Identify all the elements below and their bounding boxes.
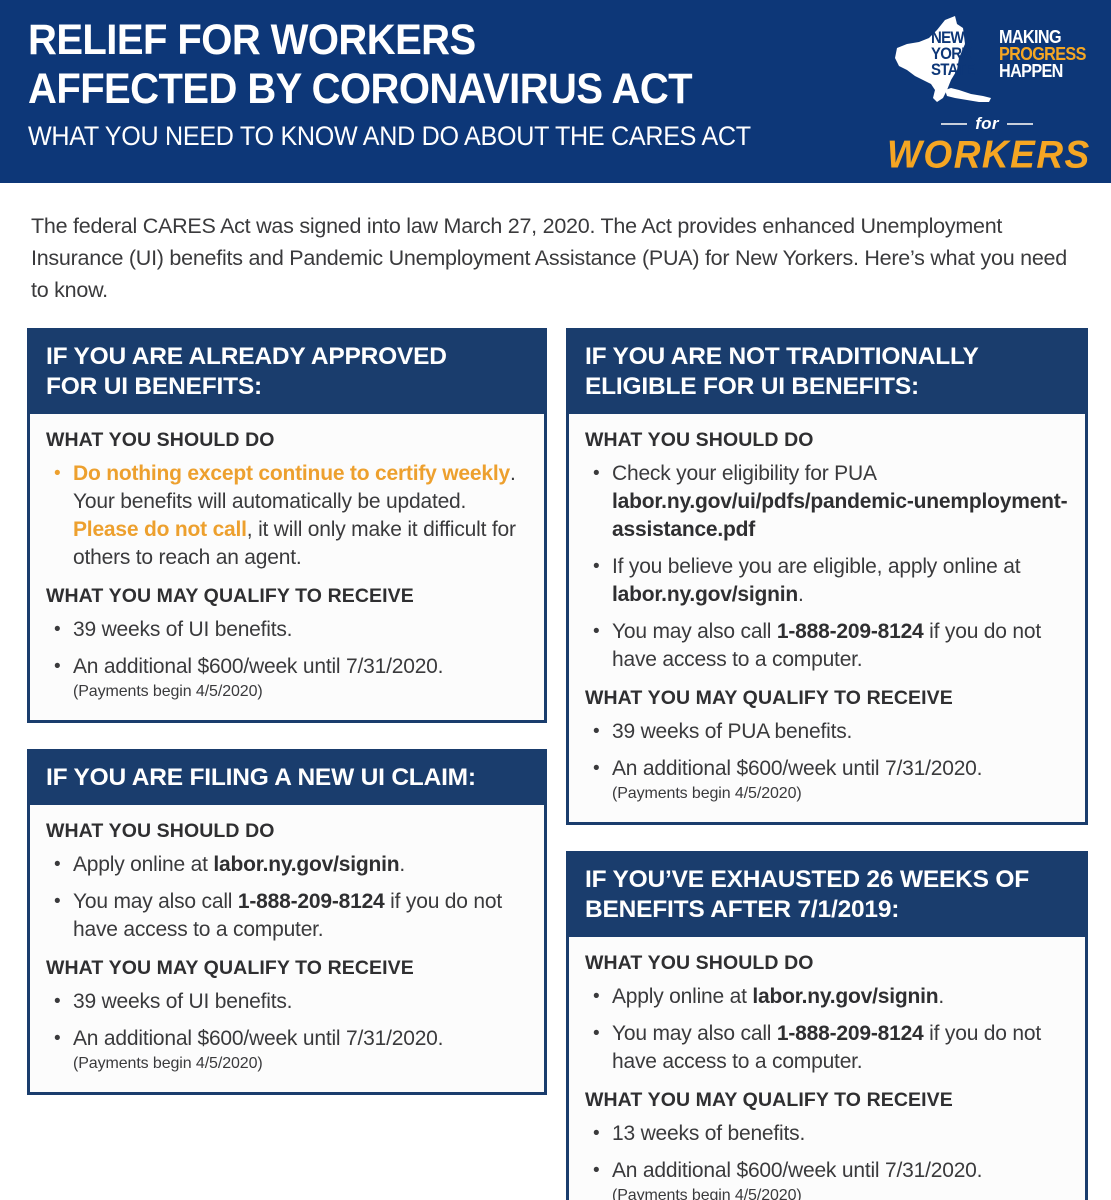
section-what-you-should-do: WHAT YOU SHOULD DO xyxy=(585,951,1069,975)
logo-state-line3: STATE xyxy=(931,60,974,79)
bullet-post-text: . xyxy=(798,583,804,606)
list-item: Apply online at labor.ny.gov/signin. xyxy=(46,851,528,879)
card-new-ui-claim-header: IF YOU ARE FILING A NEW UI CLAIM: xyxy=(30,752,544,805)
qualify-list: 39 weeks of UI benefits. An additional $… xyxy=(46,988,528,1074)
card-not-traditionally-eligible: IF YOU ARE NOT TRADITIONALLY ELIGIBLE FO… xyxy=(566,328,1088,825)
list-item: 39 weeks of UI benefits. xyxy=(46,616,528,644)
card-exhausted-benefits: IF YOU’VE EXHAUSTED 26 WEEKS OF BENEFITS… xyxy=(566,851,1088,1200)
should-do-list: Do nothing except continue to certify we… xyxy=(46,460,528,572)
card-header-line1: IF YOU ARE FILING A NEW UI CLAIM: xyxy=(46,764,476,791)
phone-number[interactable]: 1-888-209-8124 xyxy=(238,890,385,913)
card-exhausted-benefits-header: IF YOU’VE EXHAUSTED 26 WEEKS OF BENEFITS… xyxy=(569,854,1085,937)
bullet-pre-text: You may also call xyxy=(73,890,238,913)
logo-rule-right xyxy=(1007,123,1033,125)
bullet-post-text: . xyxy=(399,853,405,876)
section-what-you-should-do: WHAT YOU SHOULD DO xyxy=(46,428,528,452)
card-already-approved: IF YOU ARE ALREADY APPROVED FOR UI BENEF… xyxy=(27,328,547,723)
page-subtitle: WHAT YOU NEED TO KNOW AND DO ABOUT THE C… xyxy=(28,121,1035,151)
section-what-you-should-do: WHAT YOU SHOULD DO xyxy=(585,428,1069,452)
list-item: An additional $600/week until 7/31/2020.… xyxy=(46,1025,528,1074)
list-item: Do nothing except continue to certify we… xyxy=(46,460,528,572)
list-item: 39 weeks of PUA benefits. xyxy=(585,718,1069,746)
list-item: You may also call 1-888-209-8124 if you … xyxy=(585,618,1069,674)
bullet-pre-text: Apply online at xyxy=(73,853,213,876)
should-do-list: Check your eligibility for PUA labor.ny.… xyxy=(585,460,1069,674)
bullet-pre-text: You may also call xyxy=(612,1022,777,1045)
list-item: If you believe you are eligible, apply o… xyxy=(585,553,1069,609)
card-not-traditionally-eligible-header: IF YOU ARE NOT TRADITIONALLY ELIGIBLE FO… xyxy=(569,331,1085,414)
bullet-pre-text: If you believe you are eligible, apply o… xyxy=(612,555,1020,578)
list-item: 39 weeks of UI benefits. xyxy=(46,988,528,1016)
logo-for-row: for xyxy=(887,114,1087,134)
card-header-line2: BENEFITS AFTER 7/1/2019: xyxy=(585,896,899,923)
list-item: An additional $600/week until 7/31/2020.… xyxy=(585,1157,1069,1200)
link-labor-ny-gov-signin[interactable]: labor.ny.gov/signin xyxy=(213,853,399,876)
page-header-banner: RELIEF FOR WORKERS AFFECTED BY CORONAVIR… xyxy=(0,0,1111,183)
qualify-list: 39 weeks of UI benefits. An additional $… xyxy=(46,616,528,702)
card-exhausted-benefits-body: WHAT YOU SHOULD DO Apply online at labor… xyxy=(569,937,1085,1200)
logo-rule-left xyxy=(941,123,967,125)
card-header-line1: IF YOU’VE EXHAUSTED 26 WEEKS OF xyxy=(585,866,1029,893)
list-item: 13 weeks of benefits. xyxy=(585,1120,1069,1148)
logo-lockup: NEW YORK STATE MAKING PROGRESS HAPPEN fo… xyxy=(887,14,1087,119)
link-labor-ny-gov-signin[interactable]: labor.ny.gov/signin xyxy=(752,985,938,1008)
card-already-approved-header: IF YOU ARE ALREADY APPROVED FOR UI BENEF… xyxy=(30,331,544,414)
card-header-line1: IF YOU ARE NOT TRADITIONALLY xyxy=(585,343,979,370)
list-item: You may also call 1-888-209-8124 if you … xyxy=(585,1020,1069,1076)
section-what-you-should-do: WHAT YOU SHOULD DO xyxy=(46,819,528,843)
bullet-pre-text: Apply online at xyxy=(612,985,752,1008)
section-what-you-may-qualify: WHAT YOU MAY QUALIFY TO RECEIVE xyxy=(585,1088,1069,1112)
qualify-text: An additional $600/week until 7/31/2020. xyxy=(73,1027,443,1050)
card-already-approved-body: WHAT YOU SHOULD DO Do nothing except con… xyxy=(30,414,544,720)
bullet-pre-text: Check your eligibility for PUA xyxy=(612,462,876,485)
bullet-pre-text: You may also call xyxy=(612,620,777,643)
bullet-post-text: . xyxy=(938,985,944,1008)
cards-grid: IF YOU ARE ALREADY APPROVED FOR UI BENEF… xyxy=(0,328,1111,1200)
list-item: An additional $600/week until 7/31/2020.… xyxy=(46,653,528,702)
accent-text-do-not-call: Please do not call xyxy=(73,518,247,541)
card-new-ui-claim-body: WHAT YOU SHOULD DO Apply online at labor… xyxy=(30,805,544,1092)
payments-begin-note: (Payments begin 4/5/2020) xyxy=(73,681,528,702)
phone-number[interactable]: 1-888-209-8124 xyxy=(777,1022,924,1045)
card-new-ui-claim: IF YOU ARE FILING A NEW UI CLAIM: WHAT Y… xyxy=(27,749,547,1095)
payments-begin-note: (Payments begin 4/5/2020) xyxy=(612,783,1069,804)
card-not-traditionally-eligible-body: WHAT YOU SHOULD DO Check your eligibilit… xyxy=(569,414,1085,822)
phone-number[interactable]: 1-888-209-8124 xyxy=(777,620,924,643)
payments-begin-note: (Payments begin 4/5/2020) xyxy=(73,1053,528,1074)
accent-text-certify-weekly: Do nothing except continue to certify we… xyxy=(73,462,510,485)
card-header-line1: IF YOU ARE ALREADY APPROVED xyxy=(46,343,447,370)
right-column: IF YOU ARE NOT TRADITIONALLY ELIGIBLE FO… xyxy=(566,328,1088,1200)
ny-state-logo: NEW YORK STATE MAKING PROGRESS HAPPEN fo… xyxy=(887,14,1087,174)
payments-begin-note: (Payments begin 4/5/2020) xyxy=(612,1185,1069,1200)
link-labor-ny-gov-signin[interactable]: labor.ny.gov/signin xyxy=(612,583,798,606)
section-what-you-may-qualify: WHAT YOU MAY QUALIFY TO RECEIVE xyxy=(585,686,1069,710)
list-item: An additional $600/week until 7/31/2020.… xyxy=(585,755,1069,804)
should-do-list: Apply online at labor.ny.gov/signin. You… xyxy=(585,983,1069,1076)
logo-tagline-line3: HAPPEN xyxy=(999,63,1086,80)
logo-state-words: NEW YORK STATE xyxy=(931,30,996,78)
card-header-line2: ELIGIBLE FOR UI BENEFITS: xyxy=(585,373,919,400)
qualify-text: An additional $600/week until 7/31/2020. xyxy=(73,655,443,678)
link-pua-pdf[interactable]: labor.ny.gov/ui/pdfs/pandemic-unemployme… xyxy=(612,490,1067,541)
qualify-text: An additional $600/week until 7/31/2020. xyxy=(612,1159,982,1182)
logo-tagline: MAKING PROGRESS HAPPEN xyxy=(999,29,1086,80)
intro-paragraph: The federal CARES Act was signed into la… xyxy=(31,210,1081,306)
page-title-line2: AFFECTED BY CORONAVIRUS ACT xyxy=(28,65,1035,114)
page-title-line1: RELIEF FOR WORKERS xyxy=(28,16,1035,65)
qualify-text: An additional $600/week until 7/31/2020. xyxy=(612,757,982,780)
card-header-line2: FOR UI BENEFITS: xyxy=(46,373,262,400)
list-item: Apply online at labor.ny.gov/signin. xyxy=(585,983,1069,1011)
left-column: IF YOU ARE ALREADY APPROVED FOR UI BENEF… xyxy=(27,328,547,1095)
section-what-you-may-qualify: WHAT YOU MAY QUALIFY TO RECEIVE xyxy=(46,956,528,980)
section-what-you-may-qualify: WHAT YOU MAY QUALIFY TO RECEIVE xyxy=(46,584,528,608)
list-item: Check your eligibility for PUA labor.ny.… xyxy=(585,460,1069,544)
qualify-list: 13 weeks of benefits. An additional $600… xyxy=(585,1120,1069,1200)
logo-workers-label: WORKERS xyxy=(887,133,1087,178)
should-do-list: Apply online at labor.ny.gov/signin. You… xyxy=(46,851,528,944)
qualify-list: 39 weeks of PUA benefits. An additional … xyxy=(585,718,1069,804)
logo-for-label: for xyxy=(975,114,999,134)
list-item: You may also call 1-888-209-8124 if you … xyxy=(46,888,528,944)
